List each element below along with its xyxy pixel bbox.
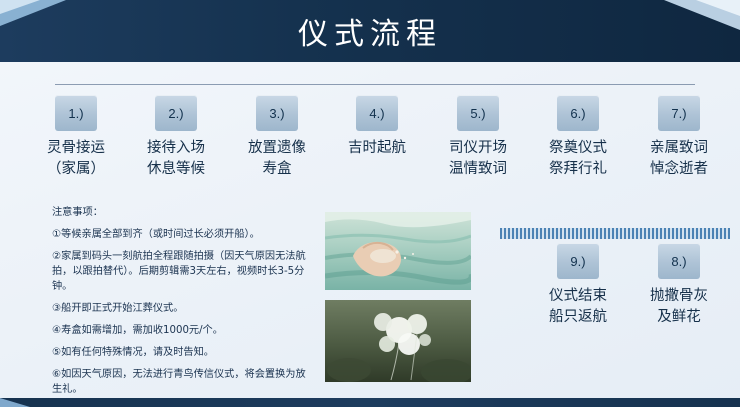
step-badge-1: 1.) [55, 95, 97, 131]
notes-block: 注意事项： ①等候亲属全部到齐（或时间过长必须开船）。 ②家属到码头一刻航拍全程… [52, 205, 310, 404]
notes-heading: 注意事项： [52, 205, 310, 220]
step-label-7: 亲属致词 悼念逝者 [625, 138, 733, 180]
step-badge-5: 5.) [457, 95, 499, 131]
hand-releasing-ashes-photo [325, 212, 471, 290]
note-item-5: ⑤如有任何特殊情况，请及时告知。 [52, 345, 310, 360]
note-item-3: ③船开即正式开始江葬仪式。 [52, 301, 310, 316]
step-badge-4: 4.) [356, 95, 398, 131]
step-badge-2: 2.) [155, 95, 197, 131]
step-label-3: 放置遗像 寿盒 [223, 138, 331, 180]
note-item-4: ④寿盒如需增加，需加收1000元/个。 [52, 323, 310, 338]
step-badge-8: 8.) [658, 243, 700, 279]
note-item-2: ②家属到码头一刻航拍全程跟随拍摄（因天气原因无法航拍，以跟拍替代）。后期剪辑需3… [52, 249, 310, 294]
step-badge-3: 3.) [256, 95, 298, 131]
step-label-9: 仪式结束 船只返航 [524, 286, 632, 328]
step-label-1: 灵骨接运 （家属） [22, 138, 130, 180]
note-item-1: ①等候亲属全部到齐（或时间过长必须开船）。 [52, 227, 310, 242]
note-item-6: ⑥如因天气原因，无法进行青鸟传信仪式，将会置换为放生礼。 [52, 367, 310, 397]
step-label-6: 祭奠仪式 祭拜行礼 [524, 138, 632, 180]
step-label-2: 接待入场 休息等候 [122, 138, 230, 180]
footer-banner [0, 398, 740, 407]
step-badge-6: 6.) [557, 95, 599, 131]
step-badge-7: 7.) [658, 95, 700, 131]
step-label-8: 抛撒骨灰 及鲜花 [625, 286, 733, 328]
slide-root: 仪式流程 1.) 2.) 3.) 4.) 5.) 6.) 7.) 灵骨接运 （家… [0, 0, 740, 407]
white-balloons-photo [325, 300, 471, 382]
step-badge-9: 9.) [557, 243, 599, 279]
step-label-5: 司仪开场 温情致词 [424, 138, 532, 180]
page-title: 仪式流程 [0, 0, 740, 62]
footer-left-triangle-icon [0, 398, 30, 407]
striped-divider [500, 228, 730, 239]
title-divider [55, 84, 695, 85]
step-label-4: 吉时起航 [323, 138, 431, 159]
